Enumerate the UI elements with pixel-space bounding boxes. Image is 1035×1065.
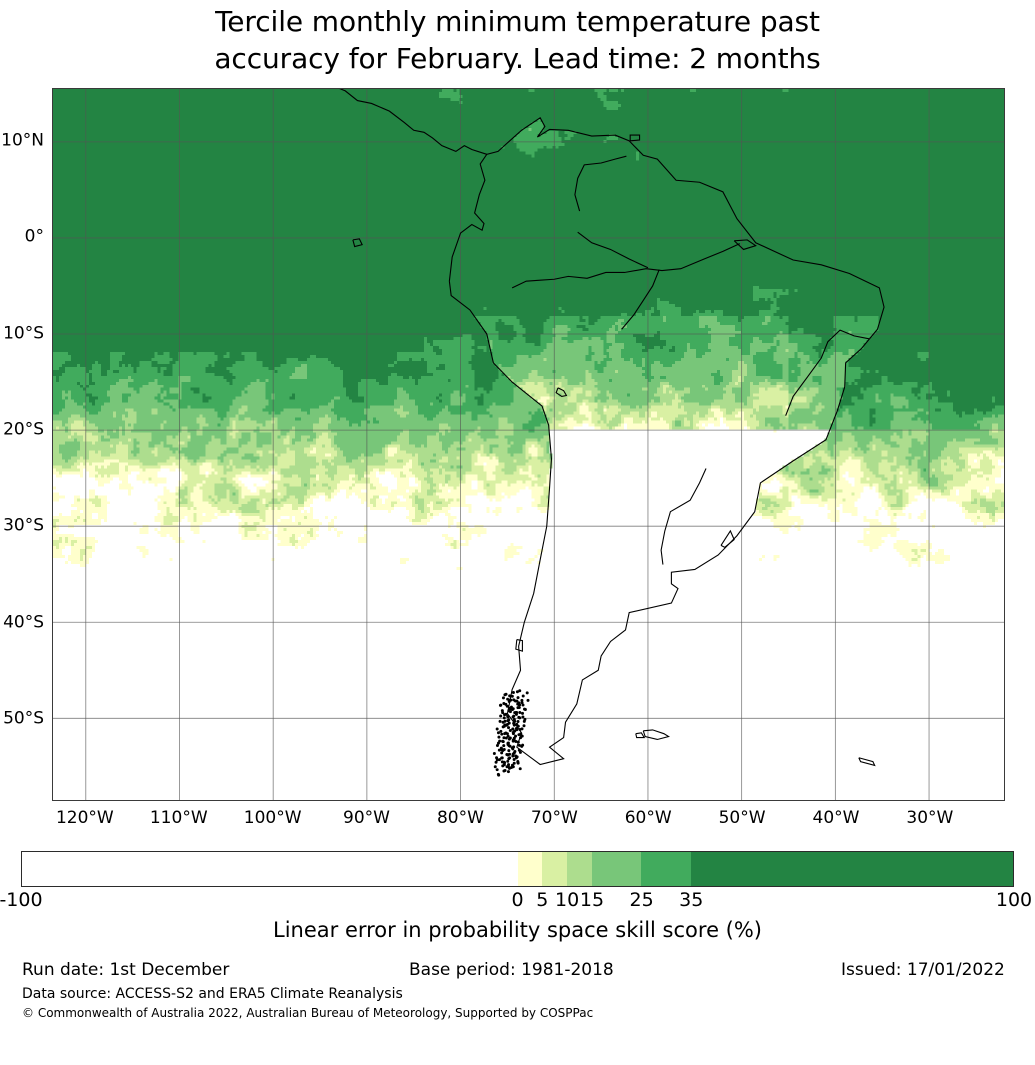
issued-date: Issued: 17/01/2022: [841, 960, 1005, 980]
colorbar-band-3: [567, 852, 592, 886]
longitude-tick-3: 90°W: [343, 810, 390, 827]
colorbar-band-5: [641, 852, 691, 886]
longitude-tick-6: 60°W: [625, 810, 672, 827]
map-plot-area: [52, 88, 1005, 801]
longitude-tick-5: 70°W: [531, 810, 578, 827]
longitude-tick-2: 100°W: [244, 810, 302, 827]
title-line-2: accuracy for February. Lead time: 2 mont…: [0, 40, 1035, 77]
colorbar-band-4: [592, 852, 642, 886]
longitude-tick-7: 50°W: [719, 810, 766, 827]
colorbar-band-1: [518, 852, 543, 886]
colorbar-tick-7: 100: [996, 890, 1032, 911]
colorbar-tick-4: 15: [580, 890, 604, 911]
copyright-notice: © Commonwealth of Australia 2022, Austra…: [22, 1006, 593, 1021]
latitude-tick-3: 20°S: [0, 422, 44, 439]
page-title: Tercile monthly minimum temperature past…: [0, 0, 1035, 77]
run-date: Run date: 1st December: [22, 960, 229, 980]
longitude-tick-1: 110°W: [150, 810, 208, 827]
longitude-tick-9: 30°W: [906, 810, 953, 827]
longitude-tick-8: 40°W: [813, 810, 860, 827]
colorbar-tick-3: 10: [555, 890, 579, 911]
footer: Run date: 1st December Base period: 1981…: [0, 960, 1035, 984]
coastline-overlay: [53, 89, 1004, 800]
data-source: Data source: ACCESS-S2 and ERA5 Climate …: [22, 986, 403, 1003]
colorbar-band-0: [22, 852, 518, 886]
colorbar-tick-2: 5: [536, 890, 548, 911]
colorbar-band-2: [542, 852, 567, 886]
latitude-tick-4: 30°S: [0, 518, 44, 535]
latitude-tick-6: 50°S: [0, 711, 44, 728]
colorbar-title: Linear error in probability space skill …: [0, 918, 1035, 943]
colorbar-tick-1: 0: [511, 890, 523, 911]
longitude-tick-4: 80°W: [437, 810, 484, 827]
latitude-tick-2: 10°S: [0, 325, 44, 342]
colorbar-tick-0: -100: [0, 890, 43, 911]
latitude-tick-0: 10°N: [0, 132, 44, 149]
colorbar-tick-6: 35: [679, 890, 703, 911]
title-line-1: Tercile monthly minimum temperature past: [0, 3, 1035, 40]
longitude-tick-0: 120°W: [56, 810, 114, 827]
latitude-tick-5: 40°S: [0, 614, 44, 631]
latitude-tick-1: 0°: [0, 229, 44, 246]
base-period: Base period: 1981-2018: [409, 960, 614, 980]
colorbar-band-6: [691, 852, 1013, 886]
colorbar: [21, 851, 1014, 887]
colorbar-tick-5: 25: [630, 890, 654, 911]
